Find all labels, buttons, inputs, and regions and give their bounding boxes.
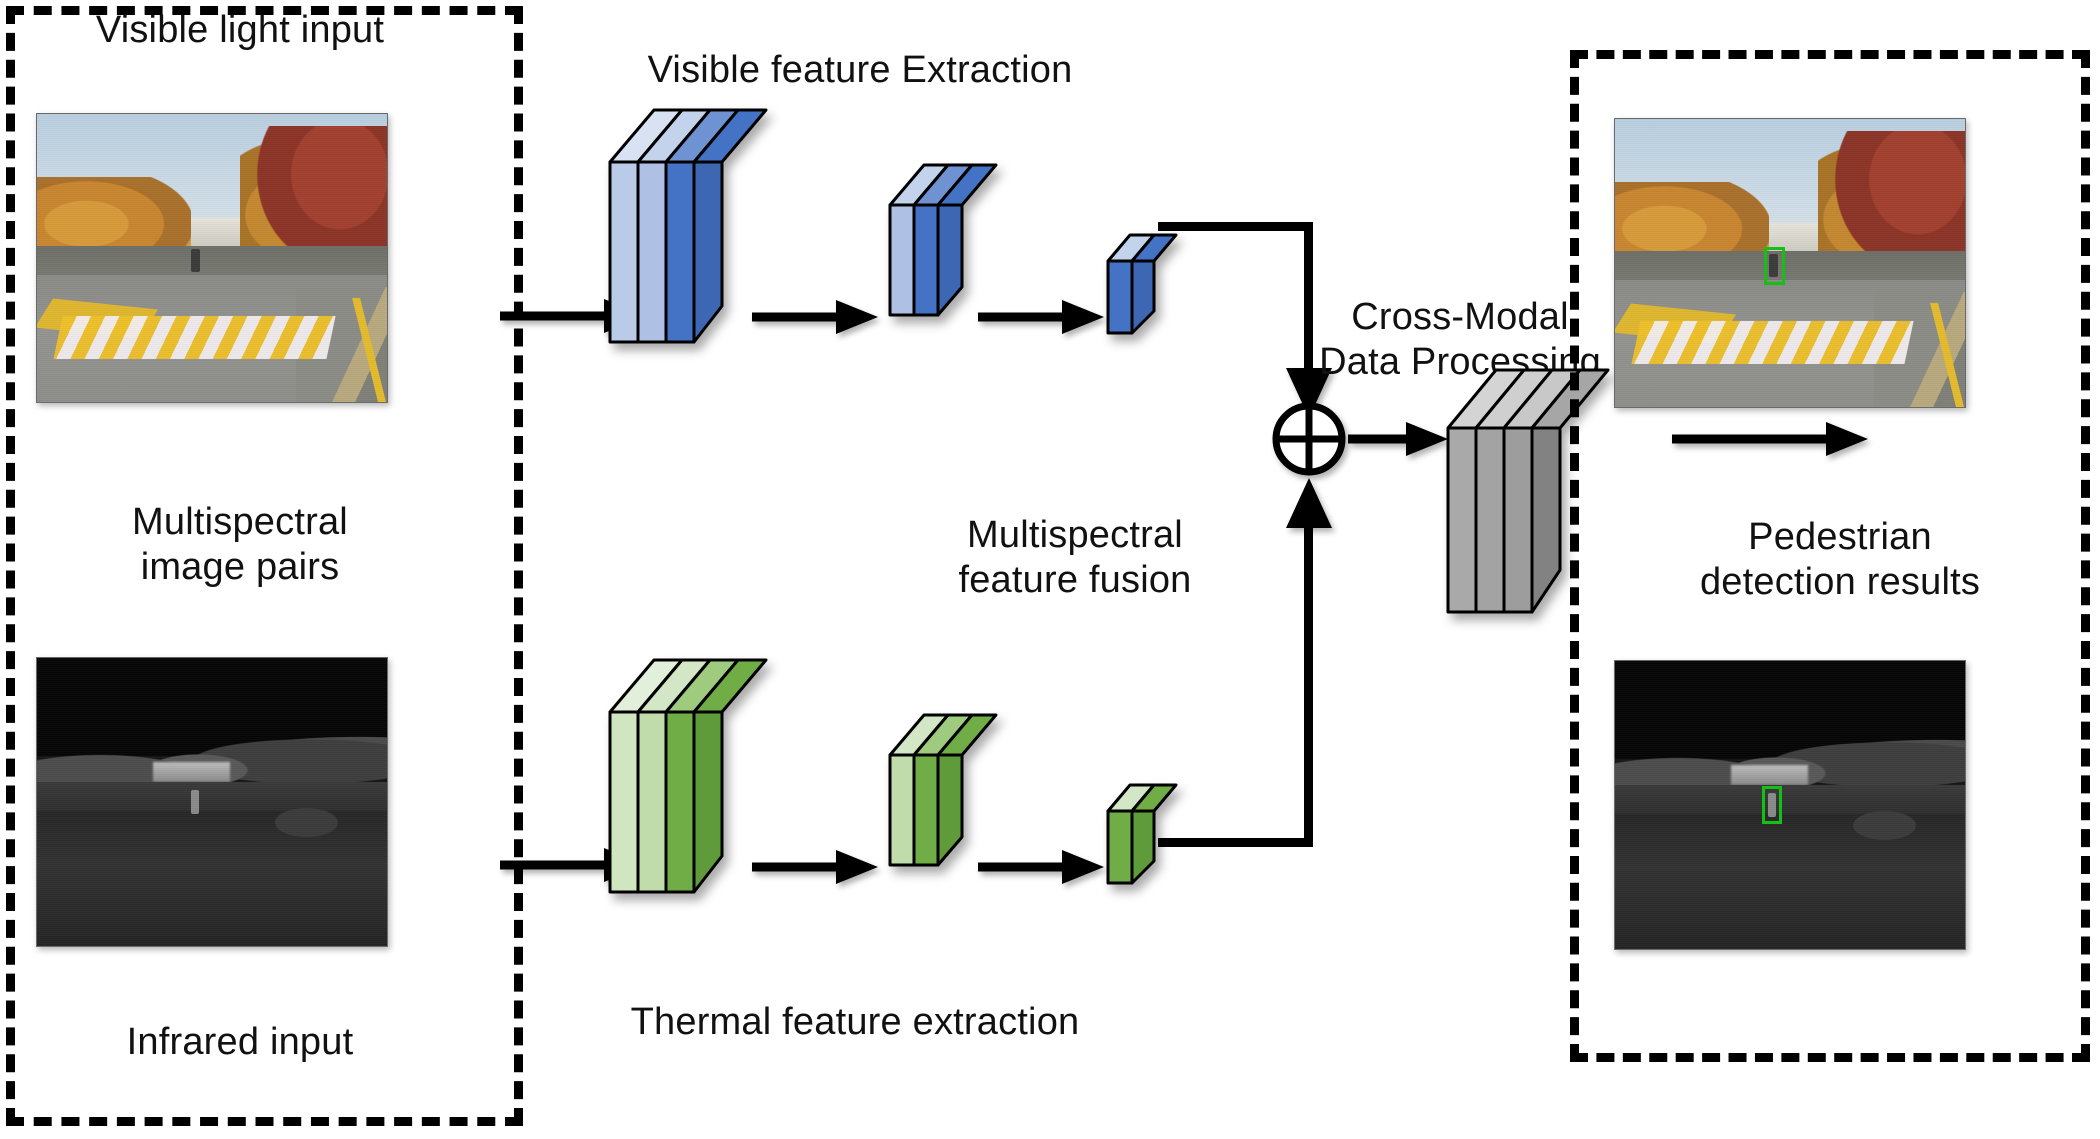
visible-conv-block-3 (1108, 235, 1198, 355)
arrow-visible-conv1-to-conv2 (752, 297, 882, 337)
fusion-sum-node (1268, 398, 1350, 480)
infrared-input-image (36, 657, 388, 947)
connector-thermal-to-fusion-vertical (1304, 495, 1313, 847)
detection-bounding-box-thermal (1762, 786, 1782, 823)
arrow-thermal-conv1-to-conv2 (752, 847, 882, 887)
visible-input-image (36, 113, 388, 403)
connector-thermal-to-fusion-horizontal (1158, 838, 1313, 847)
detection-bounding-box-visible (1764, 247, 1785, 284)
visible-input-label: Visible light input (20, 8, 460, 53)
visible-branch-label: Visible feature Extraction (590, 48, 1130, 93)
multispectral-pairs-label: Multispectral image pairs (20, 500, 460, 590)
arrow-visible-conv2-to-conv3 (978, 297, 1108, 337)
arrow-thermal-conv2-to-conv3 (978, 847, 1108, 887)
connector-visible-to-fusion-horizontal (1158, 222, 1313, 231)
infrared-input-label: Infrared input (20, 1020, 460, 1065)
arrowhead-thermal-into-fusion (1282, 478, 1336, 534)
arrow-fusion-to-cross-modal (1348, 419, 1452, 459)
visible-detection-result-image (1614, 118, 1966, 408)
thermal-detection-result-image (1614, 660, 1966, 950)
thermal-branch-label: Thermal feature extraction (575, 1000, 1135, 1045)
diagram-canvas: Visible light input Multispectral image … (0, 0, 2100, 1139)
fusion-label: Multispectral feature fusion (880, 513, 1270, 603)
pedestrian-results-label: Pedestrian detection results (1600, 515, 2080, 605)
